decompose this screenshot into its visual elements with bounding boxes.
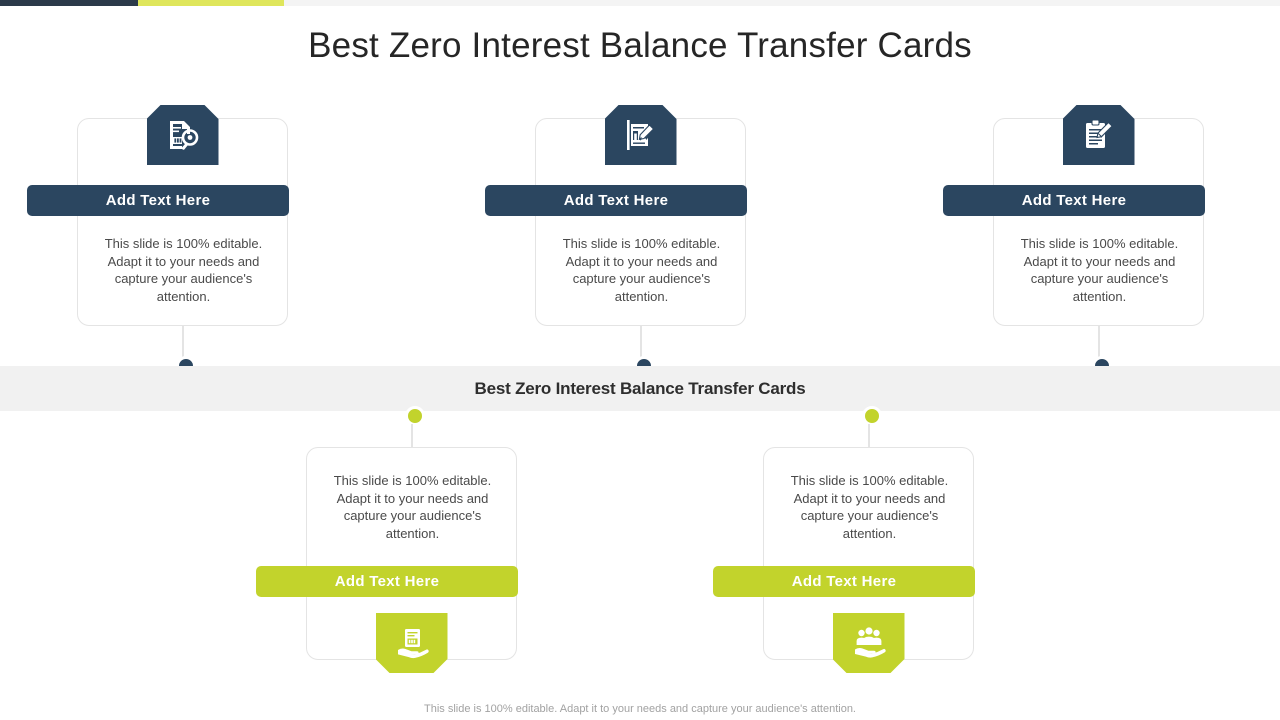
- connector-stem-top-1: [182, 326, 184, 360]
- top-card-3-ribbon-label: Add Text Here: [1022, 192, 1126, 209]
- connector-node-bottom-1: [405, 406, 425, 426]
- bottom-card-1-ribbon[interactable]: Add Text Here: [256, 566, 518, 597]
- top-card-1-body: This slide is 100% editable. Adapt it to…: [92, 235, 275, 305]
- accent-segment-navy: [0, 0, 138, 6]
- bottom-card-2-body: This slide is 100% editable. Adapt it to…: [778, 472, 961, 542]
- top-card-3-body: This slide is 100% editable. Adapt it to…: [1008, 235, 1191, 305]
- bottom-card-2-ribbon[interactable]: Add Text Here: [713, 566, 975, 597]
- accent-segment-green: [138, 0, 284, 6]
- center-banner-text: Best Zero Interest Balance Transfer Card…: [475, 379, 806, 399]
- hand-document-icon: [376, 613, 448, 673]
- connector-stem-top-3: [1098, 326, 1100, 360]
- top-card-2-ribbon[interactable]: Add Text Here: [485, 185, 747, 216]
- footer-note: This slide is 100% editable. Adapt it to…: [0, 703, 1280, 715]
- top-card-3-ribbon[interactable]: Add Text Here: [943, 185, 1205, 216]
- chart-document-pen-icon: [605, 105, 677, 165]
- bottom-card-2-ribbon-label: Add Text Here: [792, 573, 896, 590]
- page-title: Best Zero Interest Balance Transfer Card…: [0, 26, 1280, 66]
- document-search-icon: [147, 105, 219, 165]
- accent-segment-grey: [284, 0, 1280, 6]
- top-card-1[interactable]: Add Text Here This slide is 100% editabl…: [77, 118, 288, 326]
- top-card-2-body: This slide is 100% editable. Adapt it to…: [550, 235, 733, 305]
- top-card-3[interactable]: Add Text Here This slide is 100% editabl…: [993, 118, 1204, 326]
- top-card-2[interactable]: Add Text Here This slide is 100% editabl…: [535, 118, 746, 326]
- top-card-1-ribbon[interactable]: Add Text Here: [27, 185, 289, 216]
- bottom-card-1-ribbon-label: Add Text Here: [335, 573, 439, 590]
- bottom-card-2[interactable]: This slide is 100% editable. Adapt it to…: [763, 447, 974, 660]
- clipboard-pencil-icon: [1063, 105, 1135, 165]
- bottom-card-1[interactable]: This slide is 100% editable. Adapt it to…: [306, 447, 517, 660]
- center-banner: Best Zero Interest Balance Transfer Card…: [0, 366, 1280, 411]
- top-card-1-ribbon-label: Add Text Here: [106, 192, 210, 209]
- bottom-card-1-body: This slide is 100% editable. Adapt it to…: [321, 472, 504, 542]
- hand-people-icon: [833, 613, 905, 673]
- connector-node-bottom-2: [862, 406, 882, 426]
- connector-stem-top-2: [640, 326, 642, 360]
- top-card-2-ribbon-label: Add Text Here: [564, 192, 668, 209]
- top-accent-bar: [0, 0, 1280, 6]
